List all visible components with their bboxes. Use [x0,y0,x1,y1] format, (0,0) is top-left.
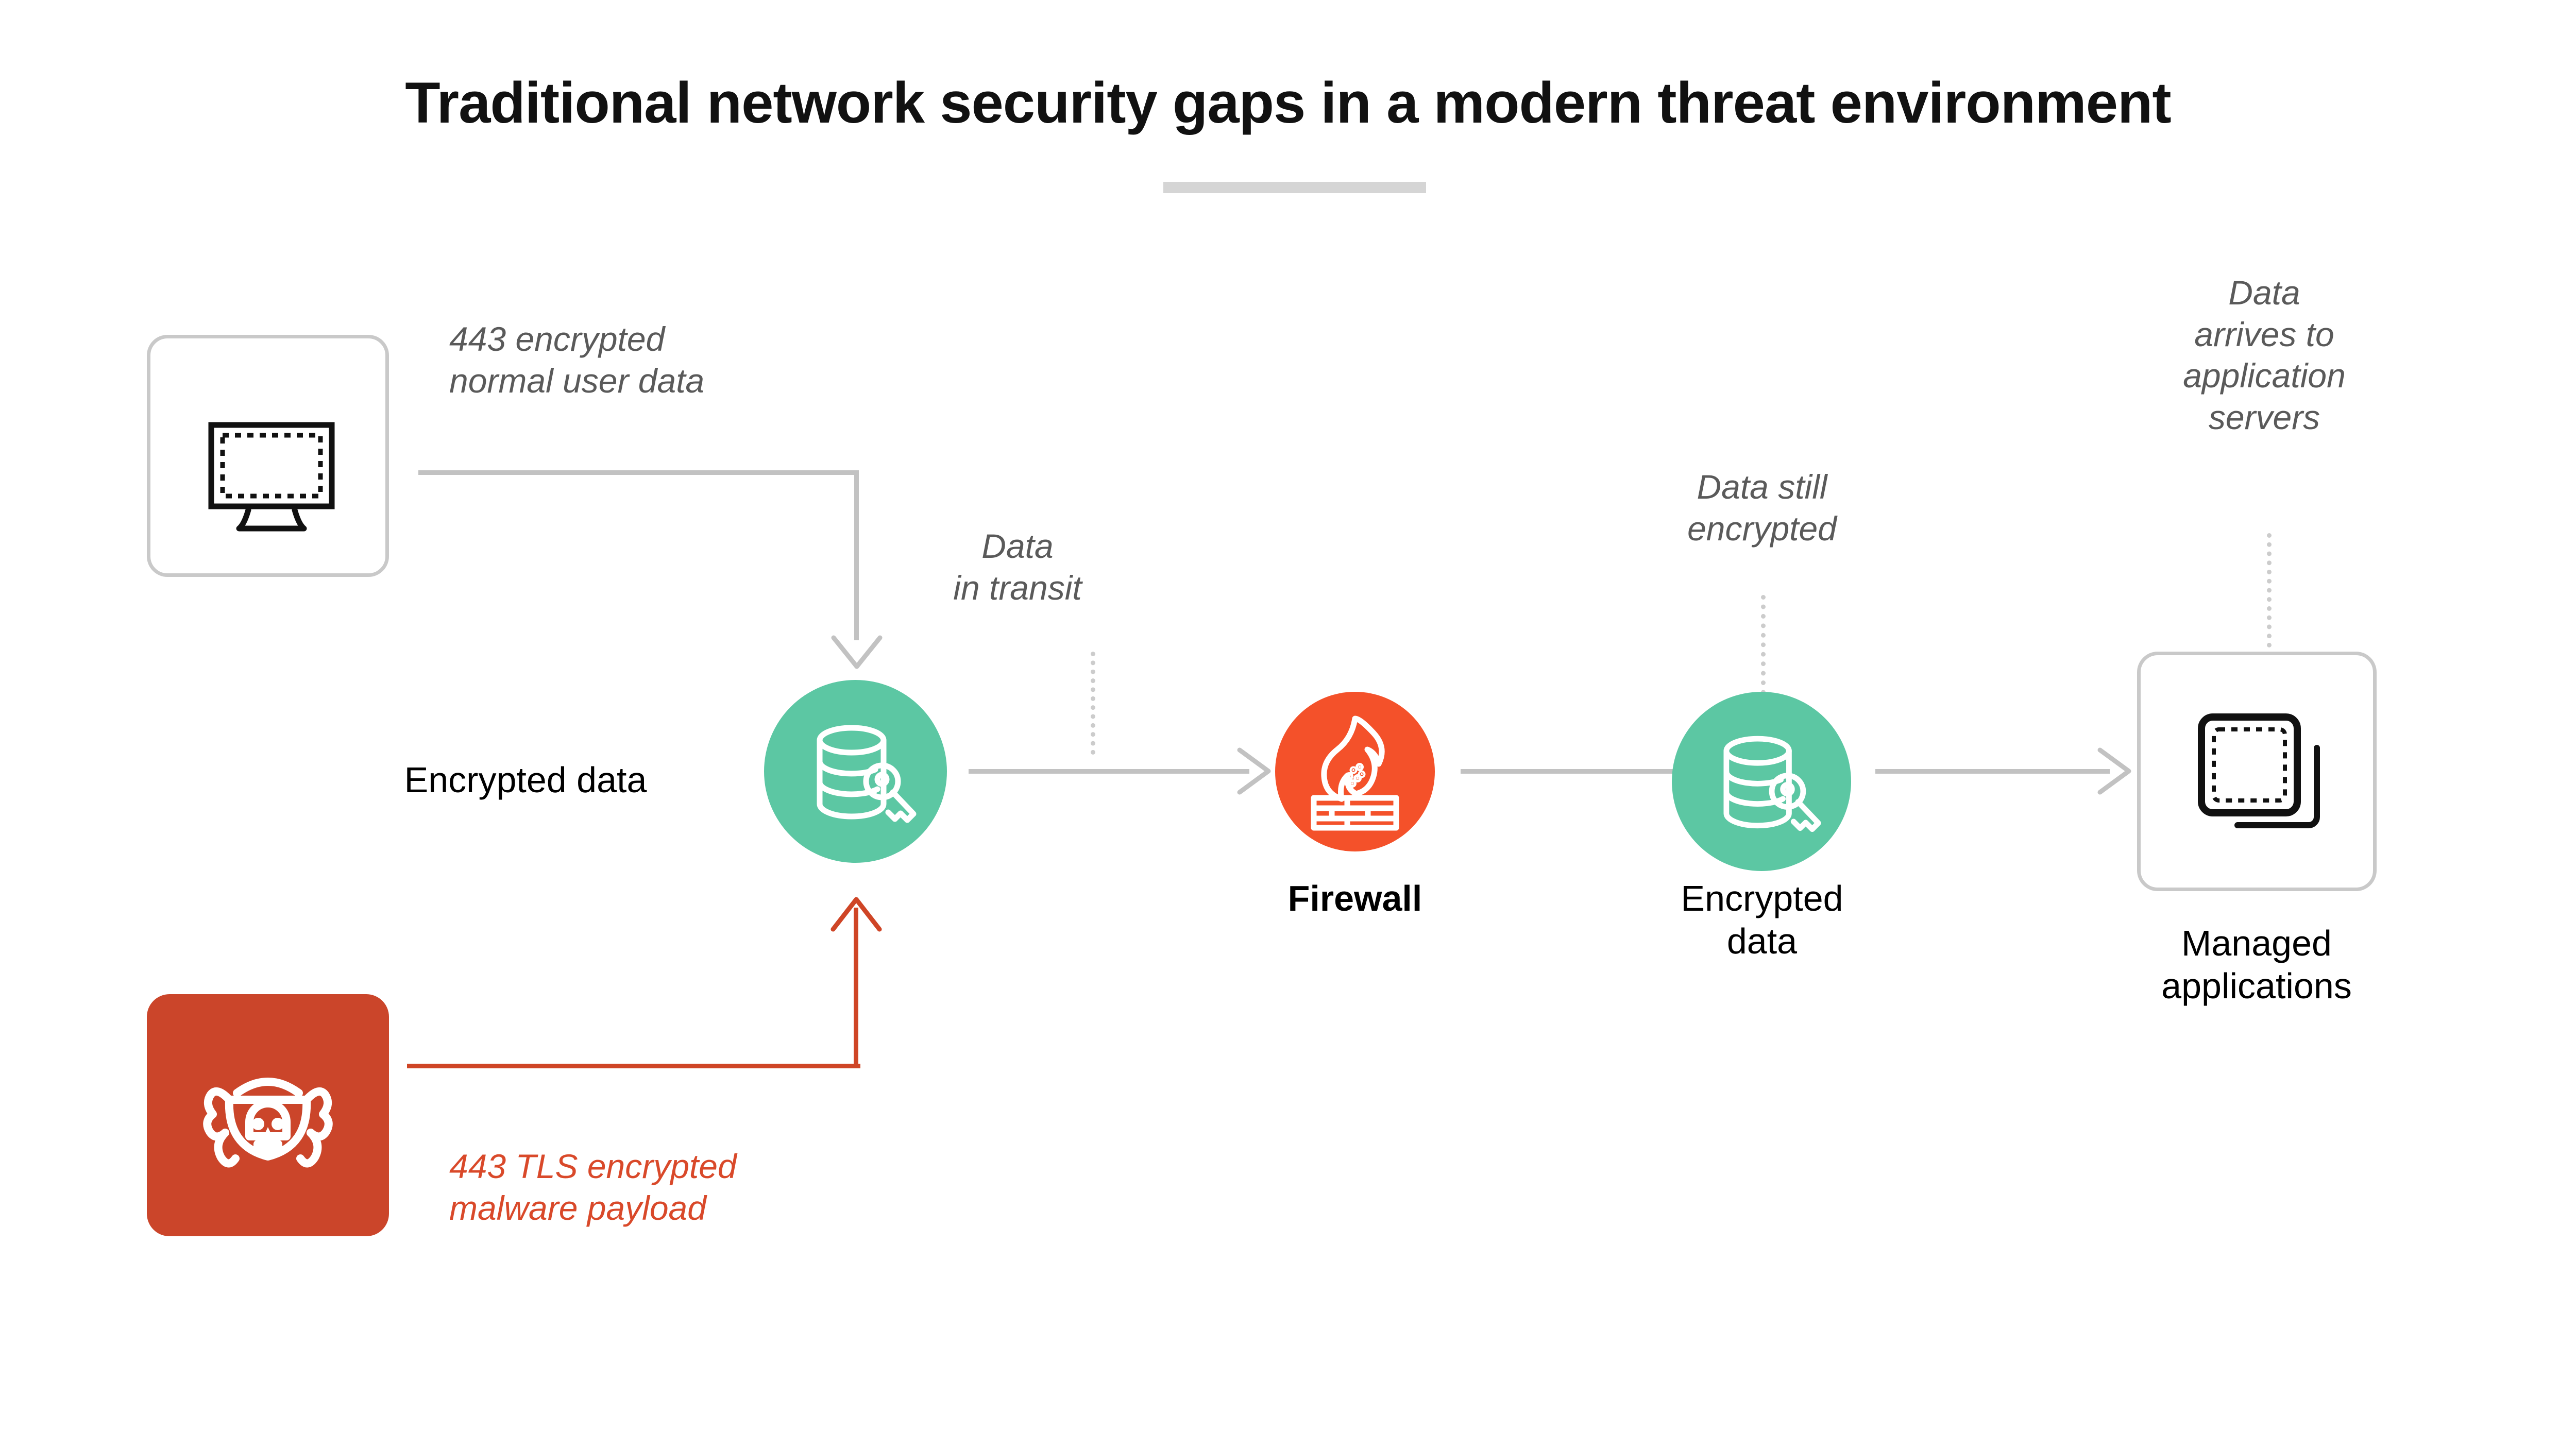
arrowhead-right-to-firewall [1236,747,1274,795]
leader-data-arrives [2267,533,2272,647]
connector-malware-horizontal [407,1064,860,1068]
user-endpoint-box[interactable] [147,335,389,577]
connector-user-vertical [854,470,859,640]
note-malware-traffic: 443 TLS encrypted malware payload [449,1146,913,1229]
note-user-traffic: 443 encrypted normal user data [449,318,872,401]
note-data-in-transit: Data in transit [902,525,1133,608]
managed-applications-box[interactable] [2137,652,2377,891]
encrypted-data-out-node[interactable] [1672,692,1851,871]
connector-to-encrypted-out [1461,769,1692,774]
leader-data-still-encrypted [1761,595,1766,704]
desktop-monitor-icon [150,338,393,581]
malware-source-box[interactable] [147,994,389,1236]
managed-applications-label: Managed applications [2076,922,2437,1007]
database-key-icon [764,680,947,863]
note-data-still-encrypted: Data still encrypted [1577,466,1947,549]
malware-spider-skull-icon [147,994,389,1236]
title-underline-rule [1163,182,1426,193]
arrowhead-down-to-encrypted [831,635,883,672]
page-title: Traditional network security gaps in a m… [0,70,2576,136]
stacked-windows-icon [2141,655,2380,895]
connector-to-managed-apps [1875,769,2110,774]
encrypted-data-in-node[interactable] [764,680,947,863]
connector-to-firewall [969,769,1249,774]
leader-data-in-transit [1091,652,1095,755]
database-key-icon [1672,692,1851,871]
note-data-arrives: Data arrives to application servers [2084,272,2445,438]
encrypted-data-in-label: Encrypted data [330,759,721,802]
firewall-label: Firewall [1190,877,1520,920]
encrypted-data-out-label: Encrypted data [1587,877,1937,962]
firewall-flame-brickwall-icon [1275,692,1435,851]
arrowhead-up-to-encrypted [830,895,883,932]
firewall-node[interactable] [1275,692,1435,851]
arrowhead-right-to-managed-apps [2097,747,2134,795]
diagram-canvas: Traditional network security gaps in a m… [0,0,2576,1449]
connector-user-horizontal [418,470,859,475]
